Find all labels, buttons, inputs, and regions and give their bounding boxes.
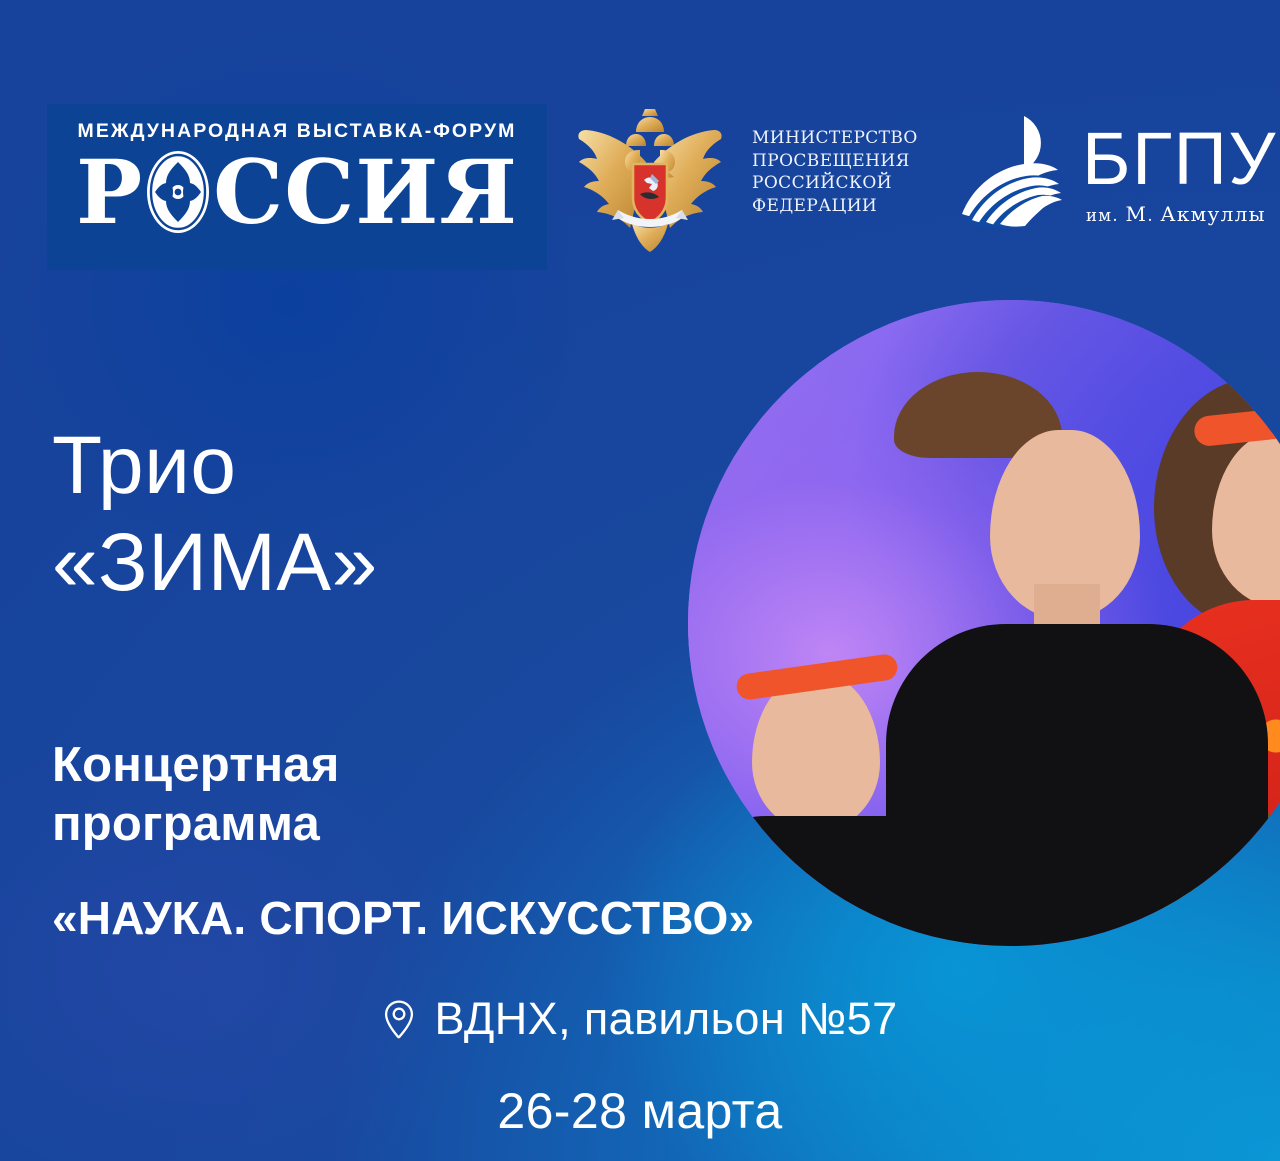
venue-line: ВДНХ, павильон №57 (0, 993, 1280, 1045)
russia-wordmark-rest: ССИЯ (213, 152, 518, 233)
performer-title: Трио «ЗИМА» (52, 418, 378, 612)
russia-expo-logo: МЕЖДУНАРОДНАЯ ВЫСТАВКА-ФОРУМ Р СС (47, 104, 547, 270)
venue-text: ВДНХ, павильон №57 (434, 993, 897, 1045)
bgpu-logo: БГПУ им. М. Акмуллы (958, 106, 1248, 256)
ministry-line-2: ПРОСВЕЩЕНИЯ (752, 150, 918, 173)
ministry-name: МИНИСТЕРСТВО ПРОСВЕЩЕНИЯ РОССИЙСКОЙ ФЕДЕ… (752, 127, 918, 217)
map-pin-icon (382, 999, 416, 1039)
ministry-line-1: МИНИСТЕРСТВО (752, 127, 918, 150)
event-dates: 26-28 марта (0, 1082, 1280, 1140)
russia-wordmark-first-letter: Р (76, 152, 143, 233)
ministry-line-4: ФЕДЕРАЦИИ (752, 195, 918, 218)
ministry-line-3: РОССИЙСКОЙ (752, 172, 918, 195)
russian-coat-of-arms-eagle-icon (566, 102, 734, 257)
performers-photo-circle (688, 300, 1280, 946)
poster-canvas: МЕЖДУНАРОДНАЯ ВЫСТАВКА-ФОРУМ Р СС (0, 0, 1280, 1161)
performer-left-head (752, 674, 880, 832)
bgpu-subtitle-dot: . (1147, 206, 1160, 225)
bgpu-subtitle-initial: М (1126, 202, 1148, 226)
ministry-logo: МИНИСТЕРСТВО ПРОСВЕЩЕНИЯ РОССИЙСКОЙ ФЕДЕ… (566, 102, 926, 267)
program-kicker: Концертная программа (52, 736, 340, 854)
logo-row: МЕЖДУНАРОДНАЯ ВЫСТАВКА-ФОРУМ Р СС (0, 96, 1280, 271)
bgpu-subtitle: им. М. Акмуллы (1086, 202, 1266, 226)
bgpu-subtitle-surname: Акмуллы (1160, 202, 1265, 226)
bgpu-wave-sail-mark-icon (958, 110, 1078, 228)
program-title: «НАУКА. СПОРТ. ИСКУССТВО» (52, 891, 754, 945)
bgpu-name: БГПУ (1082, 124, 1277, 194)
russia-ornament-o-icon (141, 149, 215, 235)
bgpu-subtitle-prefix: им. (1086, 206, 1126, 225)
russia-logo-wordmark: Р ССИЯ (76, 149, 518, 235)
